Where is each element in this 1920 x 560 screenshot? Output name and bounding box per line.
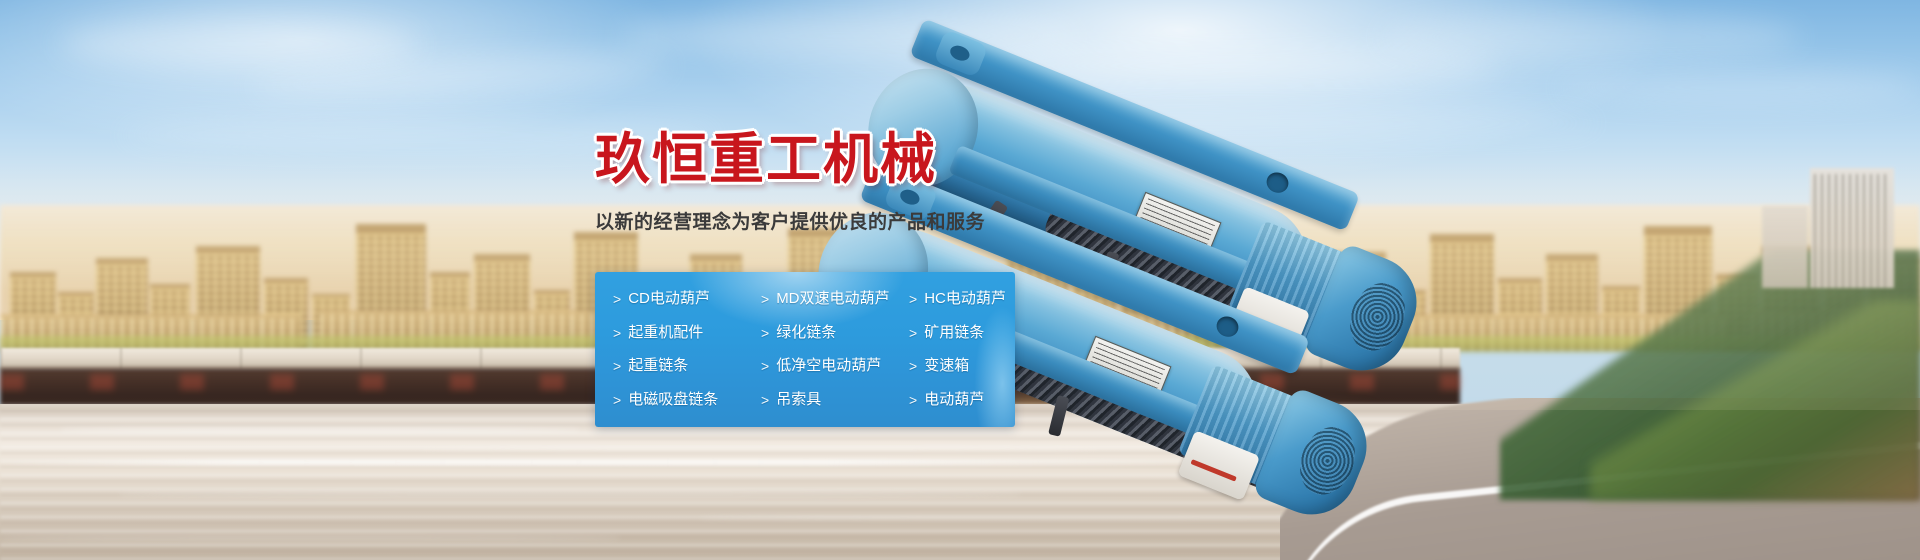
product-link-gearbox[interactable]: > 变速箱 [909,357,1033,375]
product-link-slings[interactable]: > 吊索具 [761,391,909,409]
chevron-right-icon: > [761,391,769,409]
beam-lifting-hole [1214,313,1242,340]
headline-block: 玖恒重工机械 以新的经营理念为客户提供优良的产品和服务 [595,128,1025,236]
product-link-label: MD双速电动葫芦 [776,290,889,308]
product-link-md-dual-speed-hoist[interactable]: > MD双速电动葫芦 [761,290,909,308]
chevron-right-icon: > [909,391,917,409]
product-link-cd-hoist[interactable]: > CD电动葫芦 [613,290,761,308]
promotional-banner: 玖恒重工机械 以新的经营理念为客户提供优良的产品和服务 > CD电动葫芦 > M… [0,0,1920,560]
product-link-label: 电动葫芦 [924,391,984,409]
product-link-label: HC电动葫芦 [924,290,1006,308]
chevron-right-icon: > [613,290,621,308]
product-link-crane-parts[interactable]: > 起重机配件 [613,324,761,342]
chevron-right-icon: > [613,391,621,409]
product-link-label: 吊索具 [776,391,821,409]
product-link-magnetic-chuck-chain[interactable]: > 电磁吸盘链条 [613,391,761,409]
company-slogan: 以新的经营理念为客户提供优良的产品和服务 [595,210,1025,236]
product-links-grid: > CD电动葫芦 > MD双速电动葫芦 > HC电动葫芦 > 起重机配件 > 绿… [595,272,1015,427]
chevron-right-icon: > [761,357,769,375]
product-links-panel: > CD电动葫芦 > MD双速电动葫芦 > HC电动葫芦 > 起重机配件 > 绿… [595,272,1015,427]
product-link-label: 电磁吸盘链条 [628,391,718,409]
chevron-right-icon: > [613,357,621,375]
beam-lifting-hole [1264,169,1292,196]
chevron-right-icon: > [761,324,769,342]
product-link-mining-chain[interactable]: > 矿用链条 [909,324,1033,342]
product-link-label: 起重链条 [628,357,688,375]
chevron-right-icon: > [909,357,917,375]
product-link-lifting-chain[interactable]: > 起重链条 [613,357,761,375]
product-link-label: 低净空电动葫芦 [776,357,881,375]
company-title: 玖恒重工机械 [595,128,1025,190]
product-link-label: CD电动葫芦 [628,290,710,308]
product-link-low-headroom-hoist[interactable]: > 低净空电动葫芦 [761,357,909,375]
product-link-green-chain[interactable]: > 绿化链条 [761,324,909,342]
chevron-right-icon: > [909,290,917,308]
chevron-right-icon: > [613,324,621,342]
product-link-electric-hoist[interactable]: > 电动葫芦 [909,391,1033,409]
product-link-hc-hoist[interactable]: > HC电动葫芦 [909,290,1033,308]
product-link-label: 起重机配件 [628,324,703,342]
chevron-right-icon: > [761,290,769,308]
product-link-label: 变速箱 [924,357,969,375]
product-link-label: 绿化链条 [776,324,836,342]
motor-vent-grille [1340,275,1414,359]
product-link-label: 矿用链条 [924,324,984,342]
chevron-right-icon: > [909,324,917,342]
cloud-shape [60,20,420,68]
